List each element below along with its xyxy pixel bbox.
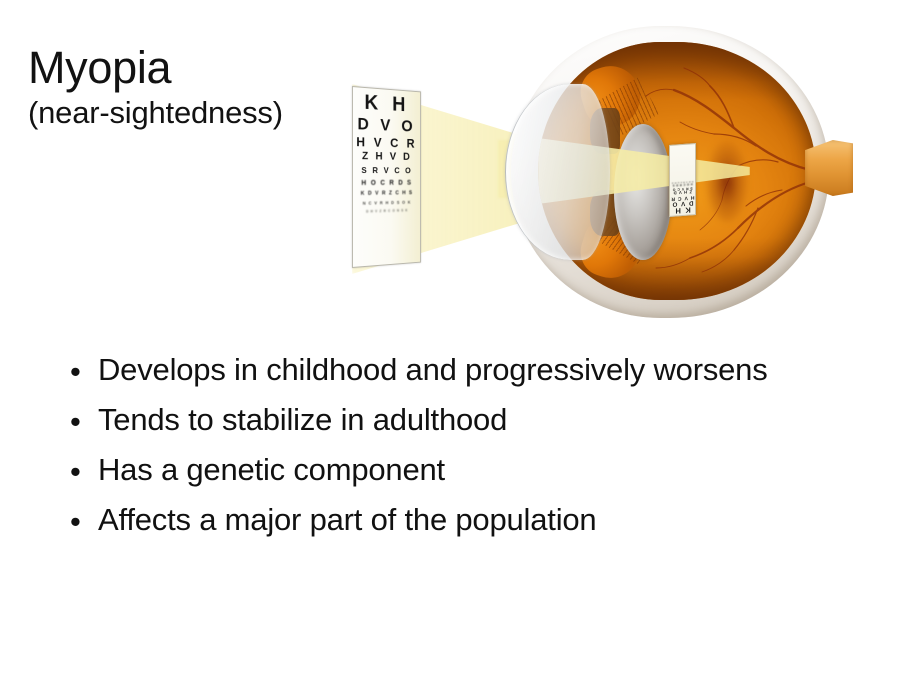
list-item: • Affects a major part of the population [64,500,864,544]
page-title: Myopia [28,44,358,92]
bullet-list: • Develops in childhood and progressivel… [64,350,864,550]
bullet-marker: • [64,400,98,444]
bullet-marker: • [64,450,98,494]
list-item-label: Develops in childhood and progressively … [98,350,768,390]
list-item: • Tends to stabilize in adulthood [64,400,864,444]
chart-row: S R V C O [356,166,418,175]
chart-row: H V C R [356,135,418,150]
list-item: • Develops in childhood and progressivel… [64,350,864,394]
macula-fovea [706,140,748,222]
chart-row: Z H V D [356,151,418,163]
chart-row: D H V Z R C O N S K [356,209,418,214]
optic-nerve [805,140,853,196]
chart-row: K H [356,91,418,115]
slide-canvas: Myopia (near-sightedness) K H D V O H V … [0,0,900,675]
list-item: • Has a genetic component [64,450,864,494]
chart-row: H O C R D S [356,179,418,186]
chart-row: N C V R H D S O K [356,201,418,207]
list-item-label: Tends to stabilize in adulthood [98,400,507,440]
eye-cross-section: K H D V O H V C R Z H V D S R V C O H O … [505,22,850,322]
list-item-label: Affects a major part of the population [98,500,596,540]
inverted-retinal-image: K H D V O H V C R Z H V D S R V C O H O … [669,143,696,217]
eye-chart: K H D V O H V C R Z H V D S R V C O H O … [352,86,430,268]
title-block: Myopia (near-sightedness) [28,44,358,132]
chart-row: D V O [356,115,418,134]
list-item-label: Has a genetic component [98,450,445,490]
chart-row: K D V R Z C H S [356,191,418,197]
bullet-marker: • [64,500,98,544]
page-subtitle: (near-sightedness) [28,94,358,132]
bullet-marker: • [64,350,98,394]
cornea [505,84,610,260]
eye-chart-board: K H D V O H V C R Z H V D S R V C O H O … [352,86,421,268]
